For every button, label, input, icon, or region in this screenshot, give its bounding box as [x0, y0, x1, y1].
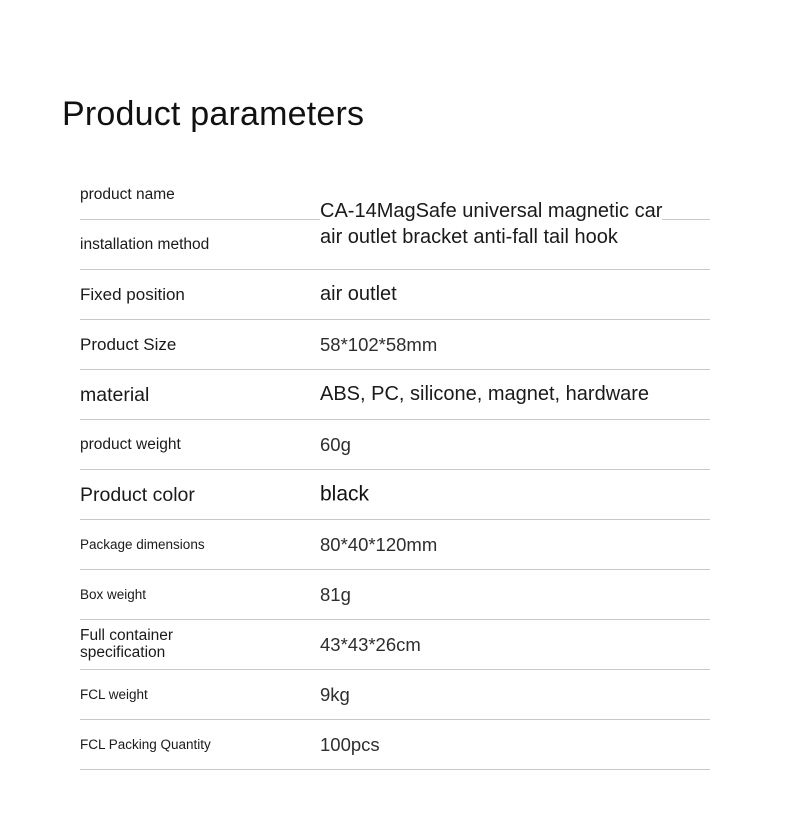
spec-label: product name [80, 186, 310, 204]
table-row: FCL Packing Quantity100pcs [80, 720, 710, 770]
spec-value: CA-14MagSafe universal magnetic car air … [320, 196, 662, 252]
page-title: Product parameters [62, 93, 364, 135]
spec-value: air outlet [320, 283, 397, 307]
spec-label: Product color [80, 483, 310, 505]
table-row: Package dimensions80*40*120mm [80, 520, 710, 570]
spec-value: ABS, PC, silicone, magnet, hardware [320, 383, 649, 407]
spec-value: 100pcs [320, 734, 380, 756]
table-row: Fixed positionair outlet [80, 270, 710, 320]
spec-label: product weight [80, 436, 310, 454]
spec-label: FCL Packing Quantity [80, 737, 310, 753]
spec-label: material [80, 383, 310, 405]
spec-value: 43*43*26cm [320, 634, 421, 656]
spec-value: 58*102*58mm [320, 334, 437, 356]
table-row: Full container specification43*43*26cm [80, 620, 710, 670]
specification-table: product nameCA-14MagSafe universal magne… [80, 170, 710, 770]
spec-label: FCL weight [80, 687, 310, 703]
spec-label: Full container specification [80, 627, 310, 663]
spec-label: Box weight [80, 587, 310, 603]
spec-value: 81g [320, 584, 351, 606]
table-row: Box weight81g [80, 570, 710, 620]
table-row: FCL weight9kg [80, 670, 710, 720]
spec-label: Fixed position [80, 285, 310, 305]
spec-value: 80*40*120mm [320, 534, 437, 556]
product-parameters-page: Product parameters product nameCA-14MagS… [0, 0, 790, 836]
spec-value: 9kg [320, 684, 350, 706]
table-row: Product Size58*102*58mm [80, 320, 710, 370]
table-row: Product colorblack [80, 470, 710, 520]
spec-label: Package dimensions [80, 537, 310, 553]
spec-value: black [320, 482, 369, 507]
spec-value: 60g [320, 434, 351, 456]
table-row: product nameCA-14MagSafe universal magne… [80, 170, 710, 220]
table-row: product weight60g [80, 420, 710, 470]
spec-label: installation method [80, 236, 310, 254]
table-row: materialABS, PC, silicone, magnet, hardw… [80, 370, 710, 420]
spec-label: Product Size [80, 335, 310, 355]
